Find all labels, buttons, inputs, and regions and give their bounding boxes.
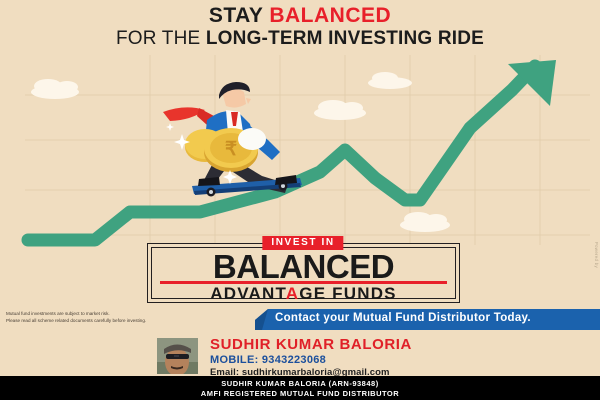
balanced-advantage-badge: BALANCED ADVANTAGE FUNDS <box>147 243 460 303</box>
badge-sub-before: ADVANT <box>210 284 286 303</box>
footer-line-1: SUDHIR KUMAR BALORIA (ARN-93848) <box>0 376 600 389</box>
ribbon-banner: Contact your Mutual Fund Distributor Tod… <box>255 309 600 330</box>
headline-prefix: STAY <box>209 4 269 27</box>
badge-headword: BALANCED <box>148 250 459 283</box>
headline-line-1: STAY BALANCED <box>0 4 600 28</box>
svg-text:₹: ₹ <box>225 139 237 160</box>
headline-line2-bold: LONG-TERM INVESTING RIDE <box>206 28 484 49</box>
headline-line2-thin: FOR THE <box>116 28 206 49</box>
cloud-icon <box>31 79 79 99</box>
headline-line-2: FOR THE LONG-TERM INVESTING RIDE <box>0 28 600 50</box>
avatar <box>157 338 198 374</box>
headline-highlight: BALANCED <box>269 4 391 27</box>
disclaimer-text: Mutual fund investments are subject to m… <box>6 310 256 324</box>
disclaimer-line-1: Mutual fund investments are subject to m… <box>6 310 256 317</box>
badge-subline: ADVANTAGE FUNDS <box>148 284 459 303</box>
ribbon-label: Contact your Mutual Fund Distributor Tod… <box>275 312 531 324</box>
avatar-photo <box>157 338 198 374</box>
poster-canvas: ₹ STAY BALANCED FOR THE LONG-TERM INVEST… <box>0 0 600 400</box>
footer-bar: SUDHIR KUMAR BALORIA (ARN-93848) AMFI RE… <box>0 376 600 400</box>
distributor-name: SUDHIR KUMAR BALORIA <box>210 337 412 353</box>
distributor-mobile[interactable]: MOBILE: 9343223068 <box>210 354 412 366</box>
badge-sub-accent: A <box>286 284 299 303</box>
footer-line-2: AMFI REGISTERED MUTUAL FUND DISTRIBUTOR <box>0 389 600 399</box>
powered-by-watermark: Powered by <box>594 242 599 268</box>
disclaimer-line-2: Please read all scheme related documents… <box>6 317 256 324</box>
badge-sub-after: GE FUNDS <box>299 284 396 303</box>
badge-invest-in-tab: INVEST IN <box>262 236 343 250</box>
headline-block: STAY BALANCED FOR THE LONG-TERM INVESTIN… <box>0 4 600 50</box>
contact-details: SUDHIR KUMAR BALORIA MOBILE: 9343223068 … <box>210 337 412 378</box>
